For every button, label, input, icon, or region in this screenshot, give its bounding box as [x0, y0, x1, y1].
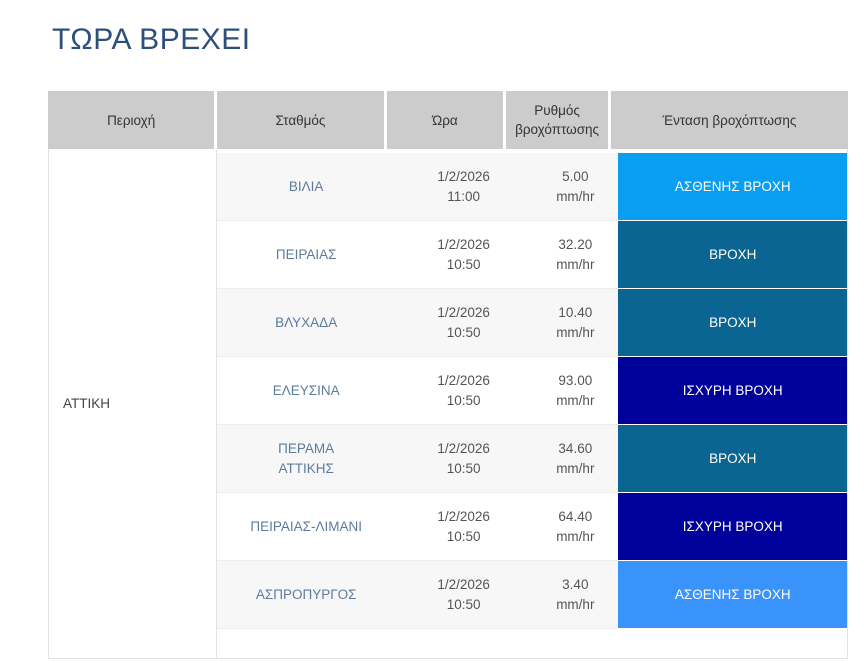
station-name-cell[interactable]: ΒΙΛΙΑ	[217, 153, 395, 221]
rain-rate-value: 64.40	[532, 507, 618, 527]
table-header-row: Περιοχή Σταθμός Ώρα Ρυθμός βροχόπτωσης	[48, 91, 848, 149]
region-name-cell: ΑΤΤΙΚΗ	[48, 149, 217, 659]
rain-rate-value: 32.20	[532, 235, 618, 255]
column-header-station-label: Σταθμός	[275, 111, 325, 130]
rain-rate-unit: mm/hr	[532, 595, 618, 615]
column-header-time[interactable]: Ώρα	[387, 91, 507, 149]
rain-rate-value: 3.40	[532, 575, 618, 595]
observation-date: 1/2/2026	[395, 303, 532, 323]
page-title: ΤΩΡΑ ΒΡΕΧΕΙ	[52, 20, 251, 60]
rain-intensity-cell: ΙΣΧΥΡΗ ΒΡΟΧΗ	[618, 493, 847, 561]
observation-date: 1/2/2026	[395, 507, 532, 527]
table-row[interactable]: ΒΛΥΧΑΔΑ1/2/202610:5010.40mm/hrΒΡΟΧΗ	[217, 289, 847, 357]
rain-rate-unit: mm/hr	[532, 459, 618, 479]
station-name-cell[interactable]: ΒΛΥΧΑΔΑ	[217, 289, 395, 357]
station-name-cell[interactable]: ΠΕΙΡΑΙΑΣ	[217, 221, 395, 289]
rain-rate-unit: mm/hr	[532, 391, 618, 411]
rain-rate-cell: 64.40mm/hr	[532, 493, 618, 561]
observation-date: 1/2/2026	[395, 167, 532, 187]
table-row[interactable]: ΠΕΙΡΑΙΑΣ-ΛΙΜΑΝΙ1/2/202610:5064.40mm/hrΙΣ…	[217, 493, 847, 561]
status-badge: ΒΡΟΧΗ	[618, 221, 847, 289]
station-name-line1: ΠΕΙΡΑΙΑΣ-ΛΙΜΑΝΙ	[217, 517, 395, 537]
rain-report-page: ΤΩΡΑ ΒΡΕΧΕΙ Περιοχή Σταθμός Ώρα Ρυθμός	[0, 0, 864, 667]
rain-rate-cell: 3.40mm/hr	[532, 561, 618, 629]
station-name-cell[interactable]: ΑΣΠΡΟΠΥΡΓΟΣ	[217, 561, 395, 629]
observation-time-cell: 1/2/202610:50	[395, 561, 532, 629]
observation-time-cell: 1/2/202610:50	[395, 357, 532, 425]
rain-rate-value: 5.00	[532, 167, 618, 187]
station-name-line1: ΠΕΡΑΜΑ	[217, 439, 395, 459]
rain-intensity-cell: ΒΡΟΧΗ	[618, 425, 847, 493]
station-name-cell[interactable]: ΕΛΕΥΣΙΝΑ	[217, 357, 395, 425]
rain-intensity-cell: ΒΡΟΧΗ	[618, 221, 847, 289]
region-group-row: ΑΤΤΙΚΗΒΙΛΙΑ1/2/202611:005.00mm/hrΑΣΘΕΝΗΣ…	[48, 149, 848, 659]
rain-rate-unit: mm/hr	[532, 187, 618, 207]
rain-rate-cell: 10.40mm/hr	[532, 289, 618, 357]
rain-intensity-cell: ΒΡΟΧΗ	[618, 289, 847, 357]
table-row[interactable]: ΕΛΕΥΣΙΝΑ1/2/202610:5093.00mm/hrΙΣΧΥΡΗ ΒΡ…	[217, 357, 847, 425]
observation-date: 1/2/2026	[395, 371, 532, 391]
observation-date: 1/2/2026	[395, 439, 532, 459]
rain-rate-unit: mm/hr	[532, 255, 618, 275]
rain-rate-unit: mm/hr	[532, 527, 618, 547]
rain-rate-value: 93.00	[532, 371, 618, 391]
observation-time-cell: 1/2/202610:50	[395, 221, 532, 289]
rain-rate-cell: 93.00mm/hr	[532, 357, 618, 425]
table-row[interactable]: ΒΙΛΙΑ1/2/202611:005.00mm/hrΑΣΘΕΝΗΣ ΒΡΟΧΗ	[217, 153, 847, 221]
column-header-region-label: Περιοχή	[107, 111, 155, 130]
column-header-rain-rate[interactable]: Ρυθμός βροχόπτωσης	[506, 91, 611, 149]
column-header-region[interactable]: Περιοχή	[48, 91, 217, 149]
observation-clock: 10:50	[395, 391, 532, 411]
station-name-line1: ΒΙΛΙΑ	[217, 177, 395, 197]
column-header-station[interactable]: Σταθμός	[217, 91, 386, 149]
column-header-rain-intensity-label: Ένταση βροχόπτωσης	[663, 111, 797, 130]
observation-clock: 11:00	[395, 187, 532, 207]
observation-time-cell: 1/2/202610:50	[395, 289, 532, 357]
table-body: ΑΤΤΙΚΗΒΙΛΙΑ1/2/202611:005.00mm/hrΑΣΘΕΝΗΣ…	[48, 149, 848, 659]
observation-clock: 10:50	[395, 323, 532, 343]
status-badge: ΒΡΟΧΗ	[618, 289, 847, 357]
station-name-cell[interactable]: ΠΕΡΑΜΑΑΤΤΙΚΗΣ	[217, 425, 395, 493]
station-name-line1: ΑΣΠΡΟΠΥΡΓΟΣ	[217, 585, 395, 605]
observation-clock: 10:50	[395, 255, 532, 275]
rain-rate-value: 34.60	[532, 439, 618, 459]
rain-rate-cell: 32.20mm/hr	[532, 221, 618, 289]
observation-clock: 10:50	[395, 527, 532, 547]
status-badge: ΑΣΘΕΝΗΣ ΒΡΟΧΗ	[618, 561, 847, 629]
table-head: Περιοχή Σταθμός Ώρα Ρυθμός βροχόπτωσης	[48, 91, 848, 149]
rain-rate-cell: 5.00mm/hr	[532, 153, 618, 221]
rain-intensity-cell: ΑΣΘΕΝΗΣ ΒΡΟΧΗ	[618, 153, 847, 221]
observation-clock: 10:50	[395, 459, 532, 479]
table-row[interactable]: ΑΣΠΡΟΠΥΡΓΟΣ1/2/202610:503.40mm/hrΑΣΘΕΝΗΣ…	[217, 561, 847, 629]
region-stations-host: ΒΙΛΙΑ1/2/202611:005.00mm/hrΑΣΘΕΝΗΣ ΒΡΟΧΗ…	[217, 149, 848, 659]
station-name-line1: ΠΕΙΡΑΙΑΣ	[217, 245, 395, 265]
station-name-line2: ΑΤΤΙΚΗΣ	[217, 459, 395, 479]
table-row[interactable]: ΠΕΙΡΑΙΑΣ1/2/202610:5032.20mm/hrΒΡΟΧΗ	[217, 221, 847, 289]
rain-rate-cell: 34.60mm/hr	[532, 425, 618, 493]
observation-date: 1/2/2026	[395, 575, 532, 595]
column-header-rain-rate-label-line1: Ρυθμός	[515, 101, 599, 120]
rain-stations-table: Περιοχή Σταθμός Ώρα Ρυθμός βροχόπτωσης	[48, 91, 848, 659]
rain-rate-unit: mm/hr	[532, 323, 618, 343]
rain-rate-value: 10.40	[532, 303, 618, 323]
observation-time-cell: 1/2/202610:50	[395, 493, 532, 561]
status-badge: ΑΣΘΕΝΗΣ ΒΡΟΧΗ	[618, 153, 847, 221]
rain-intensity-cell: ΑΣΘΕΝΗΣ ΒΡΟΧΗ	[618, 561, 847, 629]
observation-time-cell: 1/2/202611:00	[395, 153, 532, 221]
station-name-line1: ΕΛΕΥΣΙΝΑ	[217, 381, 395, 401]
station-rows-table: ΒΙΛΙΑ1/2/202611:005.00mm/hrΑΣΘΕΝΗΣ ΒΡΟΧΗ…	[217, 153, 847, 629]
observation-time-cell: 1/2/202610:50	[395, 425, 532, 493]
status-badge: ΙΣΧΥΡΗ ΒΡΟΧΗ	[618, 357, 847, 425]
column-header-rain-rate-label-line2: βροχόπτωσης	[515, 120, 599, 139]
station-name-line1: ΒΛΥΧΑΔΑ	[217, 313, 395, 333]
table-row[interactable]: ΠΕΡΑΜΑΑΤΤΙΚΗΣ1/2/202610:5034.60mm/hrΒΡΟΧ…	[217, 425, 847, 493]
column-header-time-label: Ώρα	[432, 111, 458, 130]
observation-date: 1/2/2026	[395, 235, 532, 255]
status-badge: ΙΣΧΥΡΗ ΒΡΟΧΗ	[618, 493, 847, 561]
column-header-rain-intensity[interactable]: Ένταση βροχόπτωσης	[611, 91, 848, 149]
observation-clock: 10:50	[395, 595, 532, 615]
status-badge: ΒΡΟΧΗ	[618, 425, 847, 493]
station-name-cell[interactable]: ΠΕΙΡΑΙΑΣ-ΛΙΜΑΝΙ	[217, 493, 395, 561]
rain-intensity-cell: ΙΣΧΥΡΗ ΒΡΟΧΗ	[618, 357, 847, 425]
